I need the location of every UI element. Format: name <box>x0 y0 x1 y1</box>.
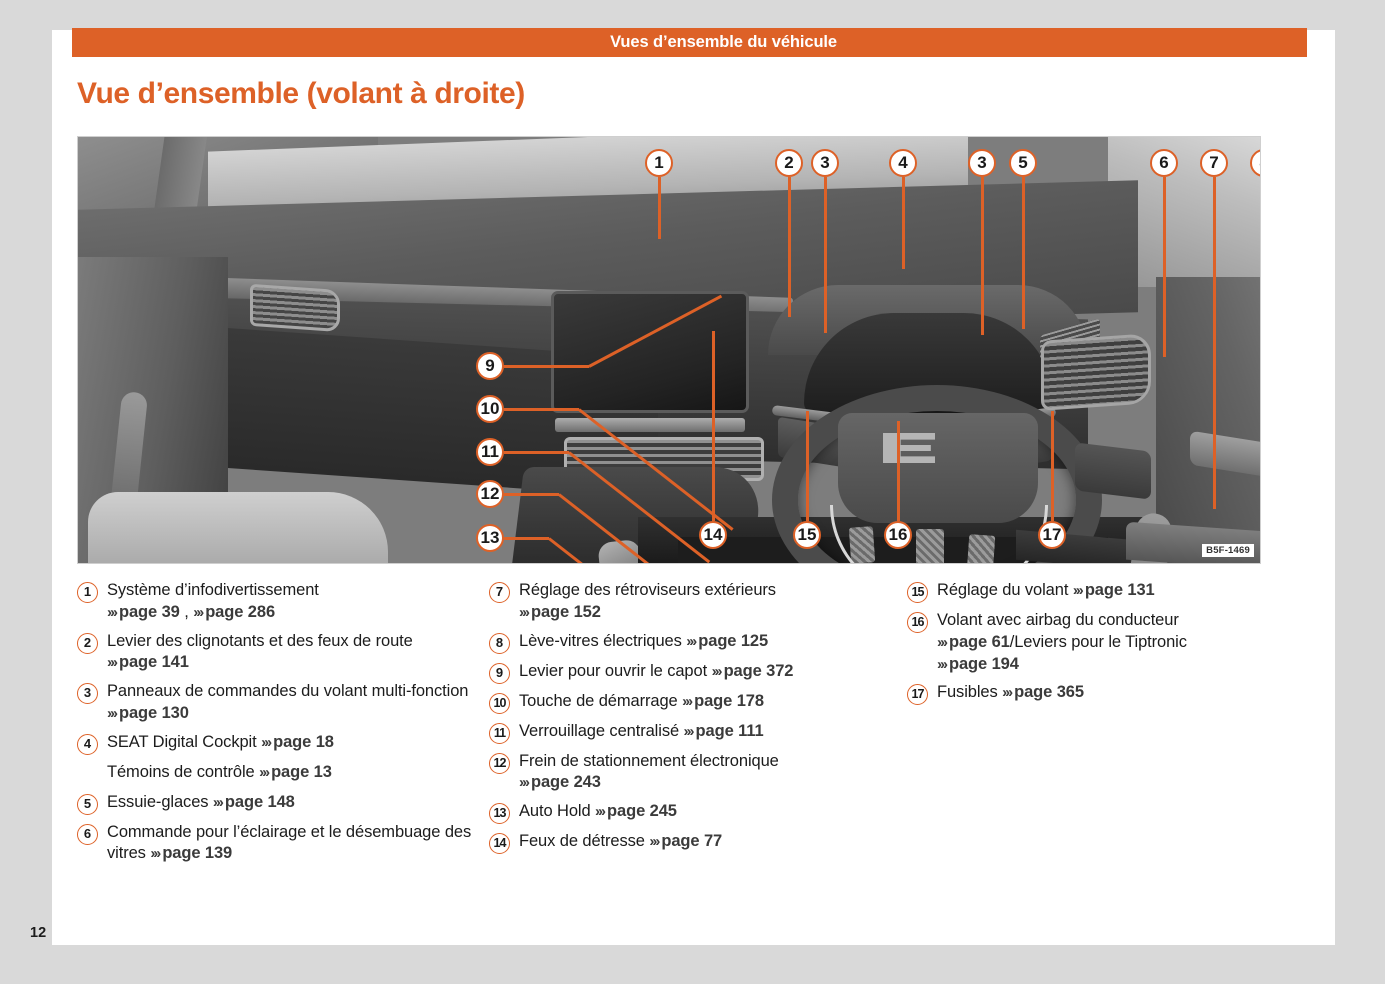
callout-leader-10-h <box>504 408 579 411</box>
chevron-right-icon: ››› <box>107 604 116 621</box>
legend-text: Lève-vitres électriques ›››page 125 <box>519 631 907 653</box>
page-root: Vues d’ensemble du véhicule Vue d’ensemb… <box>0 0 1385 984</box>
legend-item-16: 16Volant avec airbag du conducteur ›››pa… <box>907 610 1267 675</box>
legend-item-15: 15Réglage du volant ›››page 131 <box>907 580 1267 603</box>
page-reference-link[interactable]: page 245 <box>607 802 677 820</box>
figure-legend: 1Système d’infodivertissement ›››page 39… <box>77 580 1267 910</box>
page-reference-link[interactable]: page 365 <box>1014 683 1084 701</box>
callout-marker-2: 2 <box>775 149 803 177</box>
chevron-right-icon: ››› <box>261 734 270 751</box>
legend-item-2: 2Levier des clignotants et des feux de r… <box>77 631 489 675</box>
chevron-right-icon: ››› <box>193 604 202 621</box>
legend-number-13: 13 <box>489 803 510 824</box>
legend-text: Feux de détresse ›››page 77 <box>519 831 907 853</box>
chevron-right-icon: ››› <box>259 764 268 781</box>
legend-item-17: 17Fusibles ›››page 365 <box>907 682 1267 705</box>
legend-item-14: 14Feux de détresse ›››page 77 <box>489 831 907 854</box>
chevron-right-icon: ››› <box>1002 684 1011 701</box>
air-vent-driver <box>1041 333 1151 411</box>
right-door-panel <box>1156 277 1261 564</box>
legend-item-continuation: Témoins de contrôle ›››page 13 <box>77 762 489 785</box>
legend-number-1: 1 <box>77 582 98 603</box>
callout-leader-16 <box>897 421 900 521</box>
chevron-right-icon: ››› <box>519 604 528 621</box>
callout-leader-7 <box>1213 177 1216 509</box>
legend-number-2: 2 <box>77 633 98 654</box>
page-reference-link[interactable]: page 372 <box>724 662 794 680</box>
legend-text: Panneaux de commandes du volant multi-fo… <box>107 681 489 725</box>
legend-number-16: 16 <box>907 612 928 633</box>
legend-item-11: 11Verrouillage centralisé ›››page 111 <box>489 721 907 744</box>
legend-text: Système d’infodivertissement ›››page 39 … <box>107 580 489 624</box>
infotainment-screen <box>551 291 749 413</box>
legend-item-9: 9Levier pour ouvrir le capot ›››page 372 <box>489 661 907 684</box>
legend-number-4: 4 <box>77 734 98 755</box>
seat-brand-logo <box>883 433 935 463</box>
page-reference-link[interactable]: page 77 <box>661 832 722 850</box>
running-header-title: Vues d’ensemble du véhicule <box>610 28 837 57</box>
legend-text: Verrouillage centralisé ›››page 111 <box>519 721 907 743</box>
legend-text: Frein de stationnement électronique ›››p… <box>519 751 907 795</box>
running-header-banner: Vues d’ensemble du véhicule <box>72 28 1307 57</box>
chevron-right-icon: ››› <box>150 845 159 862</box>
legend-number-8: 8 <box>489 633 510 654</box>
legend-item-13: 13Auto Hold ›››page 245 <box>489 801 907 824</box>
page-reference-link[interactable]: page 13 <box>271 763 332 781</box>
callout-marker-7: 7 <box>1200 149 1228 177</box>
callout-leader-15 <box>806 411 809 521</box>
chevron-right-icon: ››› <box>937 634 946 651</box>
chevron-right-icon: ››› <box>686 633 695 650</box>
legend-item-3: 3Panneaux de commandes du volant multi-f… <box>77 681 489 725</box>
chevron-right-icon: ››› <box>107 654 116 671</box>
page-reference-link[interactable]: page 148 <box>225 793 295 811</box>
legend-text: Essuie-glaces ›››page 148 <box>107 792 489 814</box>
callout-marker-4: 4 <box>889 149 917 177</box>
legend-number-6: 6 <box>77 824 98 845</box>
page-title: Vue d’ensemble (volant à droite) <box>77 77 525 111</box>
dashboard-photo <box>78 137 1260 563</box>
legend-item-6: 6Commande pour l’éclairage et le désembu… <box>77 822 489 866</box>
chevron-right-icon: ››› <box>684 723 693 740</box>
page-reference-link[interactable]: page 141 <box>119 653 189 671</box>
legend-text: Auto Hold ›››page 245 <box>519 801 907 823</box>
legend-text: Volant avec airbag du conducteur ›››page… <box>937 610 1267 675</box>
legend-number-15: 15 <box>907 582 928 603</box>
page-reference-link[interactable]: page 130 <box>119 704 189 722</box>
chevron-right-icon: ››› <box>213 794 222 811</box>
chevron-right-icon: ››› <box>682 693 691 710</box>
page-reference-link[interactable]: page 18 <box>273 733 334 751</box>
chevron-right-icon: ››› <box>937 656 946 673</box>
page-number: 12 <box>30 925 46 941</box>
air-vent-passenger <box>250 284 340 332</box>
legend-number-14: 14 <box>489 833 510 854</box>
legend-number-17: 17 <box>907 684 928 705</box>
callout-leader-17 <box>1051 411 1054 521</box>
page-reference-link[interactable]: page 139 <box>162 844 232 862</box>
chevron-right-icon: ››› <box>107 705 116 722</box>
figure-reference-code: B5F-1469 <box>1202 544 1254 557</box>
callout-marker-3: 3 <box>811 149 839 177</box>
legend-text: Fusibles ›››page 365 <box>937 682 1267 704</box>
legend-text: Levier pour ouvrir le capot ›››page 372 <box>519 661 907 683</box>
callout-marker-9: 9 <box>476 352 504 380</box>
legend-number-5: 5 <box>77 794 98 815</box>
chevron-right-icon: ››› <box>649 833 658 850</box>
legend-item-10: 10Touche de démarrage ›››page 178 <box>489 691 907 714</box>
legend-text: Témoins de contrôle ›››page 13 <box>107 762 489 784</box>
callout-marker-3b: 3 <box>968 149 996 177</box>
callout-marker-13: 13 <box>476 524 504 552</box>
page-reference-link[interactable]: page 61 <box>949 633 1010 651</box>
chevron-right-icon: ››› <box>712 663 721 680</box>
callout-leader-11-h <box>504 451 569 454</box>
callout-marker-11: 11 <box>476 438 504 466</box>
callout-leader-6 <box>1163 177 1166 357</box>
legend-text: Commande pour l’éclairage et le désembua… <box>107 822 489 866</box>
legend-item-5: 5Essuie-glaces ›››page 148 <box>77 792 489 815</box>
legend-text: SEAT Digital Cockpit ›››page 18 <box>107 732 489 754</box>
callout-marker-5: 5 <box>1009 149 1037 177</box>
legend-text: Touche de démarrage ›››page 178 <box>519 691 907 713</box>
callout-leader-1 <box>658 177 661 239</box>
callout-leader-4 <box>902 177 905 269</box>
legend-text: Réglage des rétroviseurs extérieurs ›››p… <box>519 580 907 624</box>
page-reference-link[interactable]: page 111 <box>696 722 764 740</box>
legend-number-11: 11 <box>489 723 510 744</box>
callout-marker-6: 6 <box>1150 149 1178 177</box>
legend-item-8: 8Lève-vitres électriques ›››page 125 <box>489 631 907 654</box>
callout-marker-16: 16 <box>884 521 912 549</box>
interior-overview-figure: 12343567891011121314151617 B5F-1469 <box>77 136 1261 564</box>
page-reference-link[interactable]: page 152 <box>531 603 601 621</box>
legend-number-9: 9 <box>489 663 510 684</box>
callout-leader-3 <box>824 177 827 333</box>
callout-marker-17: 17 <box>1038 521 1066 549</box>
legend-item-7: 7Réglage des rétroviseurs extérieurs ›››… <box>489 580 907 624</box>
legend-number-3: 3 <box>77 683 98 704</box>
callout-leader-13-h <box>504 537 549 540</box>
callout-marker-15: 15 <box>793 521 821 549</box>
legend-text: Réglage du volant ›››page 131 <box>937 580 1267 602</box>
legend-number-12: 12 <box>489 753 510 774</box>
callout-leader-2 <box>788 177 791 317</box>
legend-item-1: 1Système d’infodivertissement ›››page 39… <box>77 580 489 624</box>
callout-leader-12-h <box>504 493 559 496</box>
callout-leader-5 <box>1022 177 1025 329</box>
page-reference-link[interactable]: page 39 <box>119 603 180 621</box>
page-reference-link[interactable]: page 178 <box>694 692 764 710</box>
page-reference-link[interactable]: page 125 <box>698 632 768 650</box>
page-reference-link[interactable]: page 286 <box>205 603 275 621</box>
legend-number-empty <box>77 764 98 785</box>
legend-number-10: 10 <box>489 693 510 714</box>
legend-item-4: 4SEAT Digital Cockpit ›››page 18 <box>77 732 489 755</box>
callout-marker-12: 12 <box>476 480 504 508</box>
callout-marker-14: 14 <box>699 521 727 549</box>
infotainment-control-strip <box>555 418 745 432</box>
chevron-right-icon: ››› <box>1073 582 1082 599</box>
callout-marker-10: 10 <box>476 395 504 423</box>
legend-text: Levier des clignotants et des feux de ro… <box>107 631 489 675</box>
callout-leader-9-h <box>504 365 589 368</box>
callout-leader-3b <box>981 177 984 335</box>
page-reference-link[interactable]: page 131 <box>1085 581 1155 599</box>
page-reference-link[interactable]: page 243 <box>531 773 601 791</box>
legend-column-2: 7Réglage des rétroviseurs extérieurs ›››… <box>489 580 907 910</box>
callout-leader-14 <box>712 331 715 521</box>
light-switch-panel <box>1075 442 1151 499</box>
passenger-seat <box>88 492 388 564</box>
chevron-right-icon: ››› <box>519 774 528 791</box>
callout-marker-1: 1 <box>645 149 673 177</box>
legend-number-7: 7 <box>489 582 510 603</box>
legend-column-3: 15Réglage du volant ›››page 13116Volant … <box>907 580 1267 910</box>
legend-column-1: 1Système d’infodivertissement ›››page 39… <box>77 580 489 910</box>
legend-item-12: 12Frein de stationnement électronique ››… <box>489 751 907 795</box>
page-reference-link[interactable]: page 194 <box>949 655 1019 673</box>
chevron-right-icon: ››› <box>595 803 604 820</box>
